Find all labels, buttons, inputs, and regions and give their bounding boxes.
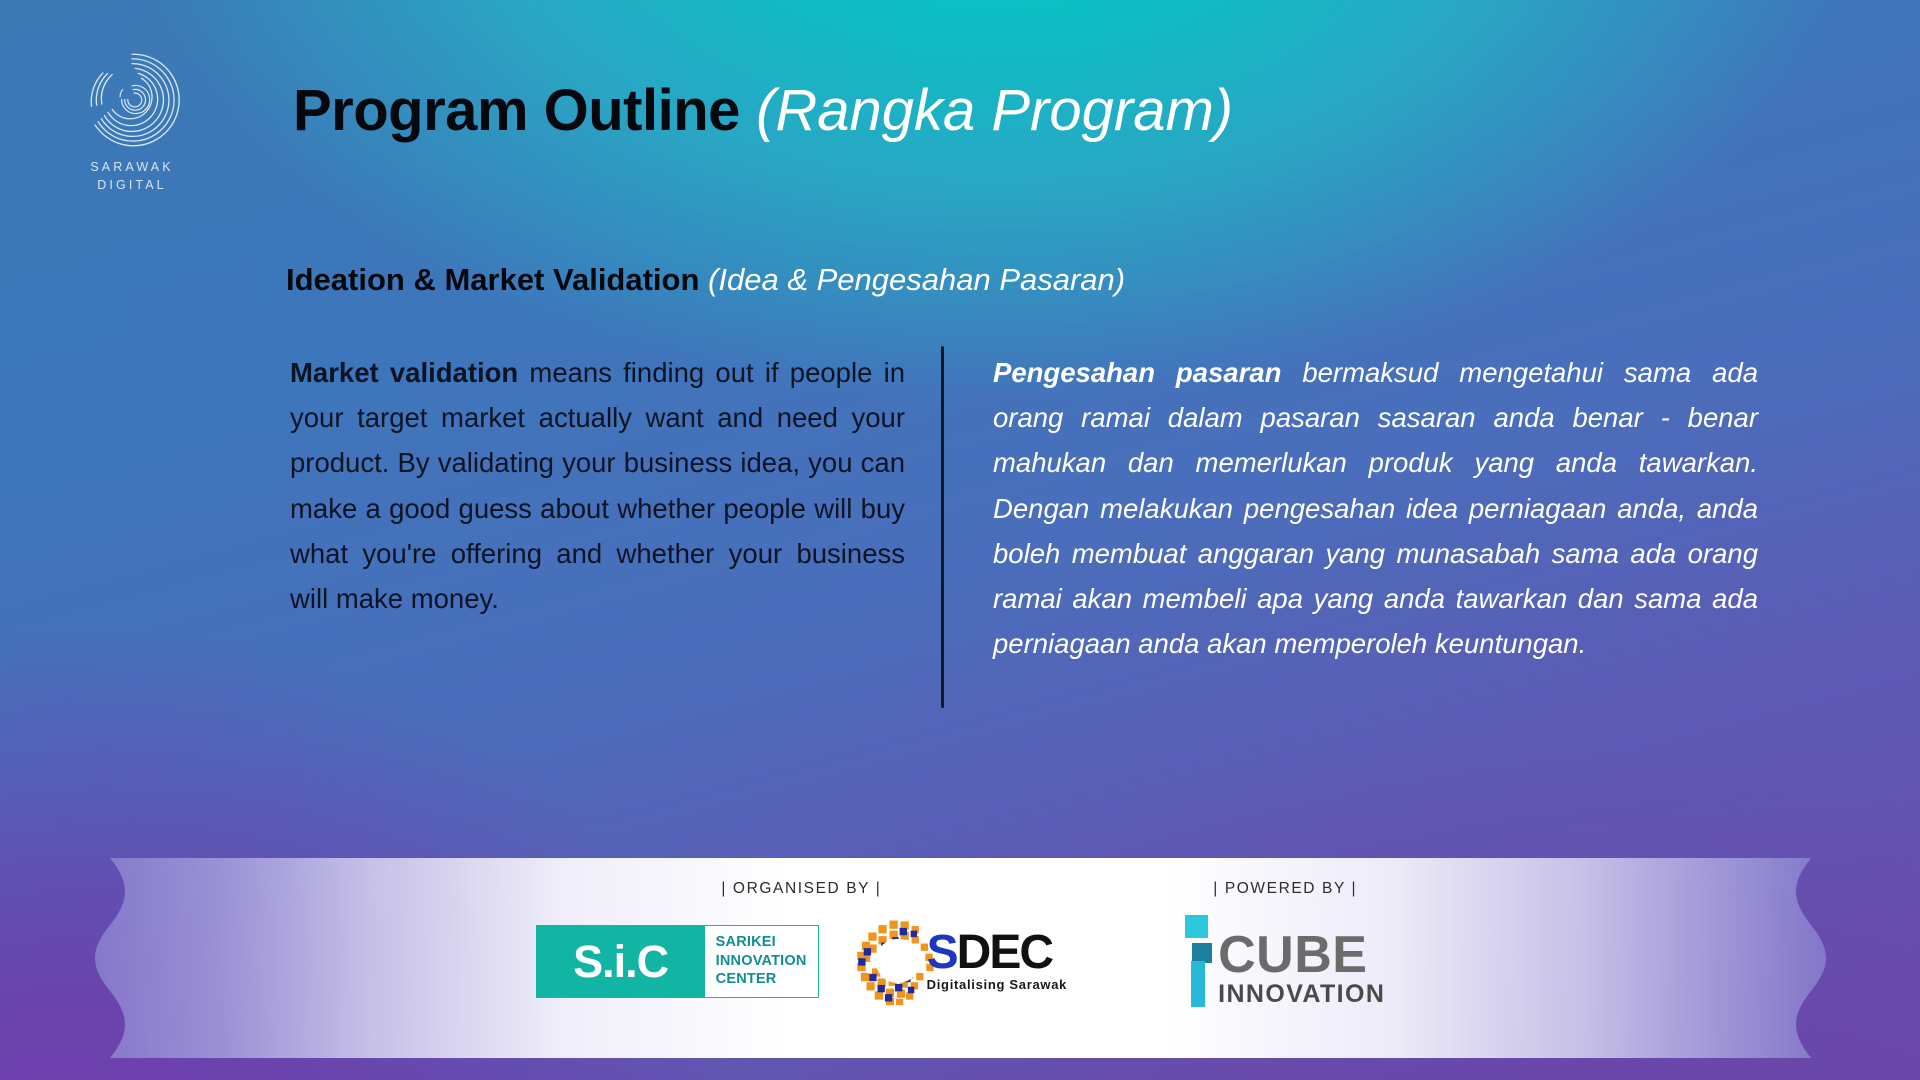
body-column-malay: Pengesahan pasaran bermaksud mengetahui … bbox=[993, 350, 1758, 667]
icube-mark: CUBE bbox=[1218, 932, 1385, 980]
sic-line-2: INNOVATION bbox=[716, 952, 807, 971]
footer-partners-band: | ORGANISED BY | S.i.C SARIKEI INNOVATIO… bbox=[88, 858, 1833, 1058]
brand-logo-line-2: DIGITAL bbox=[97, 178, 166, 192]
footer-logo-groups: | ORGANISED BY | S.i.C SARIKEI INNOVATIO… bbox=[88, 858, 1833, 1058]
icube-logo[interactable]: CUBE INNOVATION bbox=[1185, 915, 1385, 1007]
sdec-rest: DEC bbox=[957, 926, 1052, 979]
page-title-malay: (Rangka Program) bbox=[756, 78, 1233, 143]
body-right-lead: Pengesahan pasaran bbox=[993, 357, 1281, 388]
organised-by-group: | ORGANISED BY | S.i.C SARIKEI INNOVATIO… bbox=[536, 880, 1067, 1007]
sic-logo-mark: S.i.C bbox=[537, 926, 705, 997]
powered-by-group: | POWERED BY | CUBE INNOVATION bbox=[1185, 880, 1385, 1007]
organised-by-label: | ORGANISED BY | bbox=[721, 880, 881, 898]
sdec-logo[interactable]: SDEC Digitalising Sarawak bbox=[849, 915, 1067, 1007]
icube-square-top bbox=[1185, 915, 1208, 938]
powered-by-label: | POWERED BY | bbox=[1213, 880, 1357, 898]
body-left-text: means finding out if people in your targ… bbox=[290, 357, 905, 614]
sdec-word: SDEC bbox=[927, 930, 1067, 976]
sic-logo-mark-text: S.i.C bbox=[573, 939, 668, 984]
icube-square-mid bbox=[1192, 943, 1212, 963]
section-subtitle-english: Ideation & Market Validation bbox=[286, 262, 699, 297]
sarawak-digital-spiral-icon bbox=[80, 48, 184, 152]
icube-i-icon bbox=[1185, 915, 1211, 1007]
column-divider bbox=[941, 346, 944, 708]
icube-wordmark: CUBE INNOVATION bbox=[1218, 932, 1385, 1007]
sic-logo[interactable]: S.i.C SARIKEI INNOVATION CENTER bbox=[536, 925, 819, 998]
page-title-english: Program Outline bbox=[293, 78, 740, 143]
sic-logo-wordmark: SARIKEI INNOVATION CENTER bbox=[705, 926, 818, 997]
sdec-initial: S bbox=[927, 926, 957, 979]
page-title: Program Outline (Rangka Program) bbox=[293, 80, 1233, 143]
icube-stem bbox=[1191, 961, 1205, 1007]
powered-by-logos: CUBE INNOVATION bbox=[1185, 915, 1385, 1007]
organised-by-logos: S.i.C SARIKEI INNOVATION CENTER bbox=[536, 915, 1067, 1007]
icube-sub: INNOVATION bbox=[1218, 982, 1385, 1007]
body-left-lead: Market validation bbox=[290, 357, 518, 388]
brand-logo-wordmark: SARAWAK DIGITAL bbox=[72, 159, 192, 195]
section-subtitle: Ideation & Market Validation (Idea & Pen… bbox=[286, 263, 1125, 297]
body-column-english: Market validation means finding out if p… bbox=[290, 350, 905, 621]
slide-canvas: SARAWAK DIGITAL Program Outline (Rangka … bbox=[0, 0, 1920, 1080]
body-right-text: bermaksud mengetahui sama ada orang rama… bbox=[993, 357, 1758, 659]
sic-line-1: SARIKEI bbox=[716, 933, 807, 952]
section-subtitle-malay: (Idea & Pengesahan Pasaran) bbox=[708, 262, 1125, 297]
brand-logo: SARAWAK DIGITAL bbox=[72, 48, 192, 195]
sdec-tagline: Digitalising Sarawak bbox=[927, 977, 1067, 992]
sic-line-3: CENTER bbox=[716, 970, 807, 989]
sdec-wordmark: SDEC Digitalising Sarawak bbox=[927, 930, 1067, 992]
brand-logo-line-1: SARAWAK bbox=[90, 160, 173, 174]
